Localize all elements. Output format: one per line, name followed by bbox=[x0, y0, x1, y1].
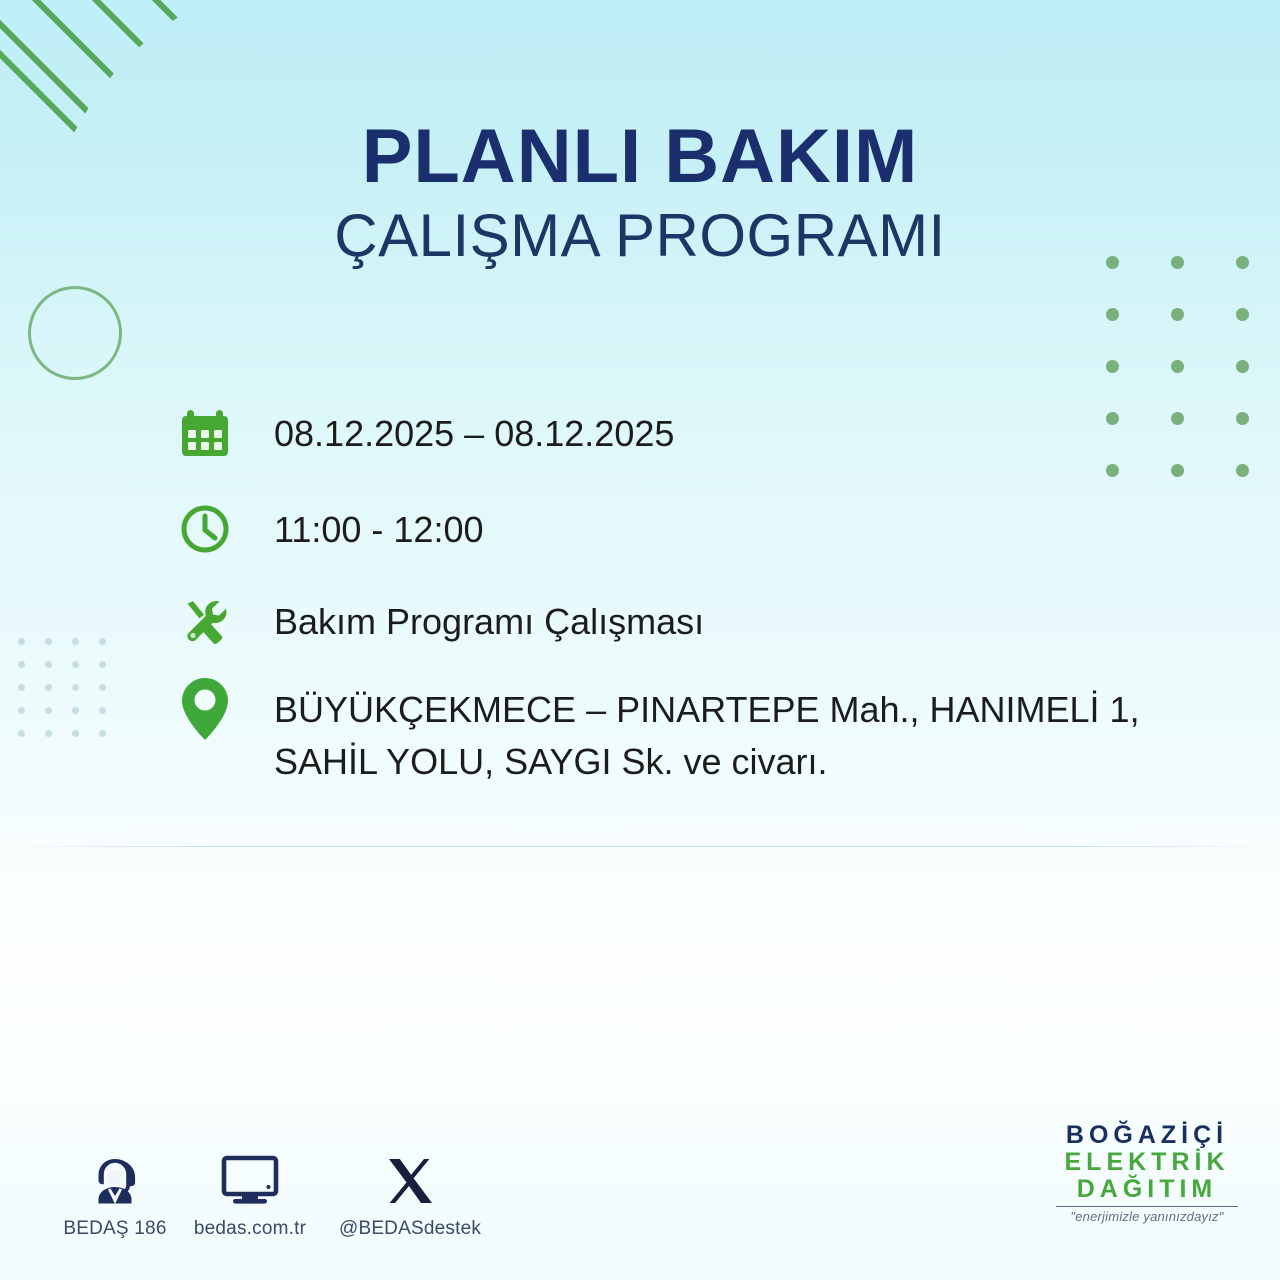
time-range-text: 11:00 - 12:00 bbox=[274, 500, 484, 556]
brand-line-2: ELEKTRİK bbox=[1042, 1149, 1252, 1176]
section-divider bbox=[0, 846, 1280, 847]
clock-icon bbox=[176, 500, 234, 558]
date-range-text: 08.12.2025 – 08.12.2025 bbox=[274, 404, 674, 460]
footer-social-label: @BEDASdestek bbox=[320, 1218, 500, 1240]
planned-maintenance-poster: PLANLI BAKIM ÇALIŞMA PROGRAMI 08.12. bbox=[0, 0, 1280, 1280]
maintenance-details: 08.12.2025 – 08.12.2025 11:00 - 12:00 bbox=[176, 404, 1236, 814]
footer-website-label: bedas.com.tr bbox=[160, 1218, 340, 1240]
circle-outline-decoration bbox=[28, 286, 122, 380]
work-type-text: Bakım Programı Çalışması bbox=[274, 592, 704, 648]
detail-row-time: 11:00 - 12:00 bbox=[176, 500, 1236, 558]
tools-icon bbox=[176, 592, 234, 650]
brand-line-1: BOĞAZİÇİ bbox=[1042, 1122, 1252, 1149]
footer-item-social[interactable]: @BEDASdestek bbox=[320, 1150, 500, 1240]
x-twitter-icon bbox=[320, 1150, 500, 1212]
location-pin-icon bbox=[176, 680, 234, 738]
dot-grid-decoration-left bbox=[18, 638, 126, 753]
detail-row-work-type: Bakım Programı Çalışması bbox=[176, 592, 1236, 650]
monitor-icon bbox=[160, 1150, 340, 1212]
brand-tagline: "enerjimizle yanınızdayız" bbox=[1042, 1209, 1252, 1224]
detail-row-date: 08.12.2025 – 08.12.2025 bbox=[176, 404, 1236, 462]
title-main: PLANLI BAKIM bbox=[0, 118, 1280, 196]
brand-line-3: DAĞITIM bbox=[1042, 1176, 1252, 1203]
calendar-icon bbox=[176, 404, 234, 462]
brand-logo: BOĞAZİÇİ ELEKTRİK DAĞITIM "enerjimizle y… bbox=[1042, 1122, 1252, 1224]
page-title: PLANLI BAKIM ÇALIŞMA PROGRAMI bbox=[0, 118, 1280, 267]
footer-item-website[interactable]: bedas.com.tr bbox=[160, 1150, 340, 1240]
brand-rule bbox=[1056, 1206, 1238, 1207]
title-subtitle: ÇALIŞMA PROGRAMI bbox=[0, 204, 1280, 267]
detail-row-address: BÜYÜKÇEKMECE – PINARTEPE Mah., HANIMELİ … bbox=[176, 680, 1236, 788]
address-text: BÜYÜKÇEKMECE – PINARTEPE Mah., HANIMELİ … bbox=[274, 680, 1236, 788]
